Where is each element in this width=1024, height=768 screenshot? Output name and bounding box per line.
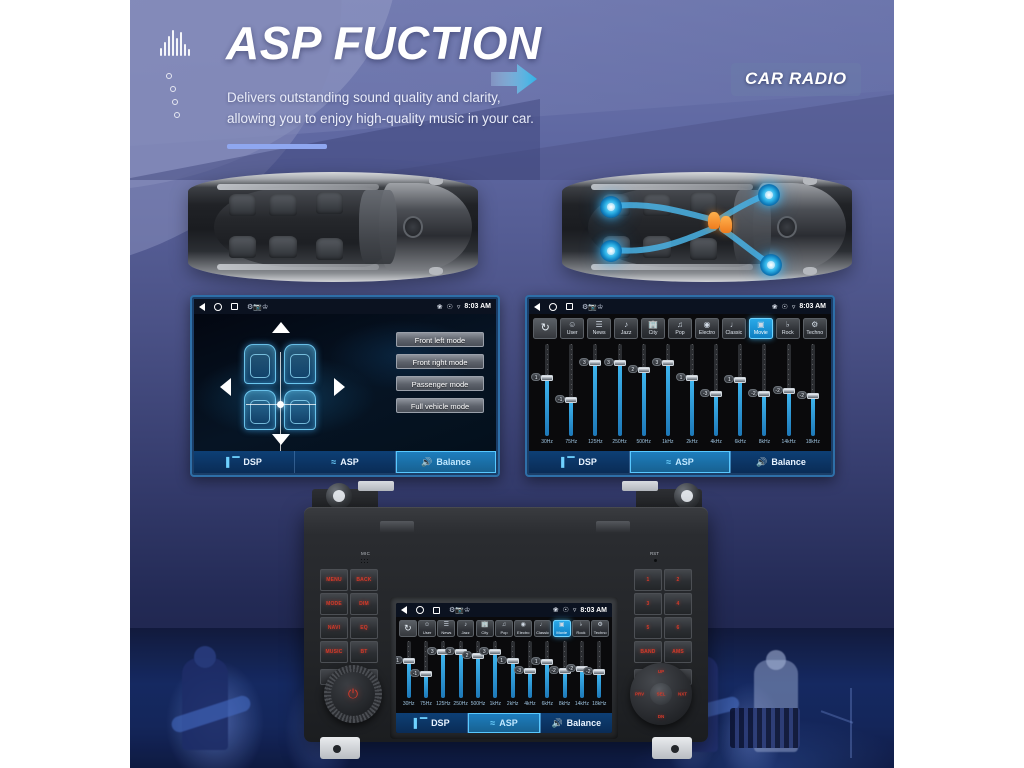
preset-user-label: User — [419, 630, 435, 636]
eq-value: 3 — [479, 647, 489, 655]
speaker-rear-right — [760, 254, 782, 276]
eq-knob[interactable] — [686, 375, 698, 381]
eq-freq-label: 8kHz — [759, 436, 770, 449]
eq-band-14khz[interactable]: -2 14kHz — [575, 641, 589, 711]
key-back[interactable]: BACK — [350, 569, 378, 591]
eq-band-8khz[interactable]: -2 8kHz — [558, 641, 572, 711]
key-navi[interactable]: NAVI — [320, 617, 348, 639]
balance-screen: ⚙📷♔ ❀ ☉ ▿ 8:03 AM — [194, 299, 496, 473]
eq-value: 3 — [604, 358, 614, 366]
unit-preset-row: ↻ ☺ User ☰ News ♪ — [396, 617, 612, 639]
bracket-tab-left — [358, 481, 394, 491]
equalizer-bars-icon: ▌▔ — [561, 458, 574, 467]
tab-balance[interactable]: 🔊 Balance — [731, 451, 831, 473]
recent-square-icon[interactable] — [433, 607, 440, 614]
tab-dsp-label: DSP — [243, 457, 262, 467]
status-tray-icons: ⚙📷♔ — [582, 303, 603, 311]
preset-user[interactable]: ☺ User — [560, 318, 584, 339]
eq-value: -1 — [410, 669, 420, 677]
eq-knob[interactable] — [420, 671, 432, 677]
eq-band-1khz[interactable]: 3 1kHz — [659, 344, 677, 449]
eq-value: 3 — [652, 358, 662, 366]
preset-movie-label: Movie — [554, 630, 570, 636]
preset-pop[interactable]: ♫ Pop — [668, 318, 692, 339]
bluetooth-icon: ❀ — [553, 606, 559, 614]
preset-rock-label: Rock — [573, 630, 589, 636]
tab-dsp[interactable]: ▌▔ DSP — [396, 713, 468, 733]
seat-balance-grid[interactable] — [244, 338, 318, 424]
tab-balance[interactable]: 🔊 Balance — [541, 713, 612, 733]
asp-waves-icon: ≈ — [666, 458, 671, 467]
eq-value: 1 — [396, 656, 403, 664]
eq-freq-label: 14kHz — [575, 698, 589, 711]
eq-screen-frame: ⚙📷♔ ❀ ☉ ▿ 8:03 AM ↻ ☺ — [525, 295, 835, 477]
classic-icon: ♩ — [535, 621, 551, 630]
unit-bottom-tab-bar: ▌▔ DSP ≈ ASP 🔊 Balance — [396, 713, 612, 733]
eq-knob[interactable] — [614, 360, 626, 366]
tab-asp[interactable]: ≈ ASP — [630, 451, 731, 473]
page-root: ASP FUCTION Delivers outstanding sound q… — [0, 0, 1024, 768]
eq-knob[interactable] — [638, 367, 650, 373]
eq-reset-button[interactable]: ↻ — [399, 620, 417, 637]
tab-dsp[interactable]: ▌▔ DSP — [529, 451, 630, 473]
eq-reset-button[interactable]: ↻ — [533, 318, 557, 339]
preset-pop-label: Pop — [496, 630, 512, 636]
status-clock: 8:03 AM — [580, 607, 607, 614]
key-bt[interactable]: BT — [350, 641, 378, 663]
key-preset-4[interactable]: 4 — [664, 593, 692, 615]
techno-icon: ⚙ — [804, 319, 826, 330]
sound-wave-paths — [562, 172, 852, 282]
bracket-tab-right — [622, 481, 658, 491]
tab-balance-label: Balance — [567, 718, 602, 728]
status-clock: 8:03 AM — [464, 303, 491, 310]
jazz-icon: ♪ — [458, 621, 474, 630]
left-key-block: MENU BACK MODE DIM NAVI EQ MUSIC BT — [320, 569, 378, 663]
eq-value: -2 — [583, 667, 593, 675]
preset-classic-label: Classic — [535, 630, 551, 636]
preset-city-label: City — [477, 630, 493, 636]
eq-value: -2 — [773, 386, 783, 394]
speaker-waves-icon: 🔊 — [756, 458, 767, 467]
location-icon: ☉ — [782, 303, 788, 311]
key-music[interactable]: MUSIC — [320, 641, 348, 663]
eq-freq-label: 1kHz — [490, 698, 501, 711]
tab-asp-label: ASP — [499, 718, 518, 728]
eq-band-75hz[interactable]: -1 75Hz — [562, 344, 580, 449]
unit-eq-body: ↻ ☺ User ☰ News ♪ — [396, 617, 612, 713]
preset-movie-label: Movie — [750, 330, 772, 337]
preset-row: ↻ ☺ User ☰ News ♪ Jazz — [529, 314, 831, 342]
eq-screen: ⚙📷♔ ❀ ☉ ▿ 8:03 AM ↻ ☺ — [529, 299, 831, 473]
speaker-front-left — [600, 196, 622, 218]
asp-waves-icon: ≈ — [490, 719, 495, 728]
eq-value: -2 — [549, 666, 559, 674]
preset-electro[interactable]: ◉ Electro — [514, 620, 532, 637]
eq-value: 2 — [628, 365, 638, 373]
eq-value: -2 — [797, 391, 807, 399]
movie-icon: ▣ — [554, 621, 570, 630]
eq-slider-group: 1 30Hz -1 75Hz — [529, 344, 831, 451]
rock-icon: ♭ — [777, 319, 799, 330]
reset-circular-arrow-icon: ↻ — [534, 319, 556, 330]
eq-freq-label: 6kHz — [735, 436, 746, 449]
eq-knob[interactable] — [489, 649, 501, 655]
bluetooth-icon: ❀ — [772, 303, 778, 311]
preset-user-label: User — [561, 330, 583, 337]
pop-icon: ♫ — [496, 621, 512, 630]
preset-news[interactable]: ☰ News — [437, 620, 455, 637]
eq-knob[interactable] — [541, 659, 553, 665]
preset-jazz[interactable]: ♪ Jazz — [457, 620, 475, 637]
eq-band-4khz[interactable]: -3 4kHz — [523, 641, 537, 711]
eq-band-250hz[interactable]: 3 250Hz — [611, 344, 629, 449]
mode-full-vehicle[interactable]: Full vehicle mode — [396, 398, 484, 413]
car-stereo-unit: MIC RST MENU BACK MODE DIM NAVI EQ MUSIC… — [296, 485, 716, 757]
key-preset-6[interactable]: 6 — [664, 617, 692, 639]
dpad-center-label: SEL — [657, 692, 666, 697]
eq-knob[interactable] — [589, 360, 601, 366]
eq-knob[interactable] — [541, 375, 553, 381]
unit-display-bezel: ⚙📷♔ ❀ ☉ ▿ 8:03 AM ↻ — [390, 597, 618, 739]
eq-freq-label: 500Hz — [636, 436, 650, 449]
preset-pop[interactable]: ♫ Pop — [495, 620, 513, 637]
eq-knob[interactable] — [524, 668, 536, 674]
eq-knob[interactable] — [734, 377, 746, 383]
preset-user[interactable]: ☺ User — [418, 620, 436, 637]
seat-front-right[interactable] — [284, 344, 316, 384]
accent-underline — [227, 144, 327, 149]
balance-position-handle[interactable] — [277, 401, 284, 408]
preset-rock[interactable]: ♭ Rock — [572, 620, 590, 637]
preset-news-label: News — [438, 630, 454, 636]
tab-balance-label: Balance — [436, 457, 471, 467]
mode-front-left[interactable]: Front left mode — [396, 332, 484, 347]
eq-band-6khz[interactable]: 1 6kHz — [731, 344, 749, 449]
eq-value: 3 — [445, 647, 455, 655]
eq-knob[interactable] — [507, 658, 519, 664]
status-tray-icons: ⚙📷♔ — [449, 606, 470, 614]
subtitle-line-1: Delivers outstanding sound quality and c… — [227, 88, 657, 109]
eq-band-8khz[interactable]: -2 8kHz — [755, 344, 773, 449]
preset-classic[interactable]: ♩ Classic — [722, 318, 746, 339]
eq-knob[interactable] — [662, 360, 674, 366]
mode-button-list: Front left mode Front right mode Passeng… — [396, 332, 484, 413]
key-menu[interactable]: MENU — [320, 569, 348, 591]
bracket-knob-left — [326, 483, 352, 509]
wifi-icon: ▿ — [573, 606, 577, 614]
preset-movie[interactable]: ▣ Movie — [749, 318, 773, 339]
eq-freq-label: 1kHz — [662, 436, 673, 449]
eq-band-2khz[interactable]: 1 2kHz — [506, 641, 520, 711]
eq-freq-label: 75Hz — [420, 698, 432, 711]
eq-band-18khz[interactable]: -2 18kHz — [804, 344, 822, 449]
preset-rock[interactable]: ♭ Rock — [776, 318, 800, 339]
power-icon: ⏻ — [348, 686, 358, 702]
preset-rock-label: Rock — [777, 330, 799, 337]
eq-value: 1 — [724, 375, 734, 383]
car-top-view-after — [562, 172, 852, 282]
transform-arrow-icon — [491, 62, 537, 96]
eq-band-1khz[interactable]: 3 1kHz — [488, 641, 502, 711]
microphone-icon — [360, 558, 369, 565]
eq-knob[interactable] — [783, 388, 795, 394]
eq-freq-label: 18kHz — [592, 698, 606, 711]
eq-band-14khz[interactable]: -2 14kHz — [780, 344, 798, 449]
eq-knob[interactable] — [807, 393, 819, 399]
subtitle-line-2: allowing you to enjoy high-quality music… — [227, 109, 657, 130]
bluetooth-icon: ❀ — [437, 303, 443, 311]
eq-body: ↻ ☺ User ☰ News ♪ Jazz — [529, 314, 831, 451]
eq-value: -2 — [748, 389, 758, 397]
jazz-icon: ♪ — [615, 319, 637, 330]
bracket-knob-right — [674, 483, 700, 509]
preset-news-label: News — [588, 330, 610, 337]
rst-label: RST — [650, 551, 659, 556]
tab-asp-label: ASP — [340, 457, 359, 467]
preset-city[interactable]: 🏢 City — [641, 318, 665, 339]
status-tray-icons: ⚙📷♔ — [247, 303, 268, 311]
movie-icon: ▣ — [750, 319, 772, 330]
preset-electro-label: Electro — [696, 330, 718, 337]
unit-display: ⚙📷♔ ❀ ☉ ▿ 8:03 AM ↻ — [396, 603, 612, 733]
eq-freq-label: 2kHz — [686, 436, 697, 449]
eq-freq-label: 4kHz — [710, 436, 721, 449]
equalizer-bars-icon: ▌▔ — [226, 458, 239, 467]
arrow-left-icon[interactable] — [220, 378, 231, 396]
mic-label: MIC — [361, 551, 370, 556]
preset-techno-label: Techno — [592, 630, 608, 636]
city-icon: 🏢 — [477, 621, 493, 630]
back-triangle-icon[interactable] — [534, 303, 540, 311]
eq-value: -2 — [566, 664, 576, 672]
eq-value: 1 — [531, 373, 541, 381]
page-subtitle: Delivers outstanding sound quality and c… — [227, 88, 657, 130]
unit-eq-slider-group: 1 30Hz -1 75 — [396, 641, 612, 713]
recent-square-icon[interactable] — [231, 303, 238, 310]
eq-value: -3 — [514, 666, 524, 674]
eq-band-2khz[interactable]: 1 2kHz — [683, 344, 701, 449]
classic-icon: ♩ — [723, 319, 745, 330]
arrow-right-icon[interactable] — [334, 378, 345, 396]
category-badge: CAR RADIO — [731, 63, 861, 96]
eq-band-18khz[interactable]: -2 18kHz — [592, 641, 606, 711]
recent-square-icon[interactable] — [566, 303, 573, 310]
status-clock: 8:03 AM — [799, 303, 826, 310]
techno-icon: ⚙ — [592, 621, 608, 630]
eq-value: 1 — [531, 657, 541, 665]
key-preset-2[interactable]: 2 — [664, 569, 692, 591]
eq-freq-label: 125Hz — [588, 436, 602, 449]
preset-jazz[interactable]: ♪ Jazz — [614, 318, 638, 339]
eq-freq-label: 125Hz — [436, 698, 450, 711]
preset-techno[interactable]: ⚙ Techno — [591, 620, 609, 637]
eq-band-30hz[interactable]: 1 30Hz — [538, 344, 556, 449]
key-preset-1[interactable]: 1 — [634, 569, 662, 591]
tab-dsp[interactable]: ▌▔ DSP — [194, 451, 295, 473]
preset-news[interactable]: ☰ News — [587, 318, 611, 339]
stereo-faceplate: MIC RST MENU BACK MODE DIM NAVI EQ MUSIC… — [304, 507, 708, 742]
balance-screen-frame: ⚙📷♔ ❀ ☉ ▿ 8:03 AM — [190, 295, 500, 477]
eq-freq-label: 8kHz — [559, 698, 570, 711]
speaker-waves-icon: 🔊 — [551, 719, 562, 728]
eq-value: 2 — [462, 651, 472, 659]
eq-freq-label: 18kHz — [806, 436, 820, 449]
eq-freq-label: 30Hz — [541, 436, 553, 449]
asp-waves-icon: ≈ — [331, 458, 336, 467]
eq-knob[interactable] — [403, 658, 415, 664]
electro-icon: ◉ — [696, 319, 718, 330]
navigation-dpad[interactable]: UP DN PRV NXT SEL — [630, 663, 692, 725]
home-circle-icon[interactable] — [416, 606, 424, 614]
equalizer-bars-icon: ▌▔ — [414, 719, 427, 728]
key-preset-5[interactable]: 5 — [634, 617, 662, 639]
eq-knob[interactable] — [758, 391, 770, 397]
electro-icon: ◉ — [515, 621, 531, 630]
tab-asp-label: ASP — [675, 457, 694, 467]
tab-asp[interactable]: ≈ ASP — [295, 451, 396, 473]
key-preset-3[interactable]: 3 — [634, 593, 662, 615]
eq-value: 1 — [676, 373, 686, 381]
dpad-down-label: DN — [658, 714, 665, 719]
eq-band-125hz[interactable]: 3 125Hz — [586, 344, 604, 449]
key-ams[interactable]: AMS — [664, 641, 692, 663]
rock-icon: ♭ — [573, 621, 589, 630]
eq-band-500hz[interactable]: 2 500Hz — [635, 344, 653, 449]
tab-asp[interactable]: ≈ ASP — [468, 713, 540, 733]
mode-passenger[interactable]: Passenger mode — [396, 376, 484, 391]
eq-freq-label: 500Hz — [471, 698, 485, 711]
tab-dsp-label: DSP — [431, 718, 450, 728]
arrow-up-icon[interactable] — [272, 322, 290, 333]
eq-freq-label: 75Hz — [565, 436, 577, 449]
eq-value: -3 — [700, 389, 710, 397]
speaker-waves-icon: 🔊 — [421, 458, 432, 467]
key-band[interactable]: BAND — [634, 641, 662, 663]
preset-electro-label: Electro — [515, 630, 531, 636]
waveform-icon — [160, 30, 190, 56]
balance-body: Front left mode Front right mode Passeng… — [194, 314, 496, 451]
key-eq[interactable]: EQ — [350, 617, 378, 639]
tab-balance-label: Balance — [771, 457, 806, 467]
eq-knob[interactable] — [710, 391, 722, 397]
seat-rear-right[interactable] — [284, 390, 316, 430]
news-icon: ☰ — [588, 319, 610, 330]
back-triangle-icon[interactable] — [401, 606, 407, 614]
eq-band-4khz[interactable]: -3 4kHz — [707, 344, 725, 449]
preset-electro[interactable]: ◉ Electro — [695, 318, 719, 339]
mode-front-right[interactable]: Front right mode — [396, 354, 484, 369]
pop-icon: ♫ — [669, 319, 691, 330]
arrow-down-icon[interactable] — [272, 434, 290, 445]
speaker-rear-left — [600, 240, 622, 262]
wifi-icon: ▿ — [457, 303, 461, 311]
home-circle-icon[interactable] — [549, 303, 557, 311]
eq-band-6khz[interactable]: 1 6kHz — [540, 641, 554, 711]
mount-foot-left — [320, 737, 360, 759]
bottom-tab-bar: ▌▔ DSP ≈ ASP 🔊 Balance — [194, 451, 496, 473]
reset-circular-arrow-icon: ↻ — [400, 621, 416, 632]
eq-freq-label: 250Hz — [453, 698, 467, 711]
eq-knob[interactable] — [593, 669, 605, 675]
speaker-front-right — [758, 184, 780, 206]
status-bar: ⚙📷♔ ❀ ☉ ▿ 8:03 AM — [194, 299, 496, 314]
preset-jazz-label: Jazz — [458, 630, 474, 636]
right-key-block: 1 2 3 4 5 6 BAND AMS — [634, 569, 692, 663]
eq-freq-label: 250Hz — [612, 436, 626, 449]
user-icon: ☺ — [561, 319, 583, 330]
home-circle-icon[interactable] — [214, 303, 222, 311]
seat-front-left[interactable] — [244, 344, 276, 384]
dpad-up-label: UP — [658, 669, 664, 674]
eq-value: -1 — [555, 395, 565, 403]
preset-city[interactable]: 🏢 City — [476, 620, 494, 637]
eq-value: 1 — [497, 656, 507, 664]
preset-movie[interactable]: ▣ Movie — [553, 620, 571, 637]
key-mode[interactable]: MODE — [320, 593, 348, 615]
eq-value: 3 — [579, 358, 589, 366]
preset-techno-label: Techno — [804, 330, 826, 337]
status-bar-eq: ⚙📷♔ ❀ ☉ ▿ 8:03 AM — [529, 299, 831, 314]
dpad-left-label: PRV — [635, 692, 644, 697]
wifi-icon: ▿ — [792, 303, 796, 311]
eq-freq-label: 4kHz — [524, 698, 535, 711]
eq-freq-label: 30Hz — [403, 698, 415, 711]
preset-jazz-label: Jazz — [615, 330, 637, 337]
preset-classic[interactable]: ♩ Classic — [534, 620, 552, 637]
eq-freq-label: 2kHz — [507, 698, 518, 711]
faceplate-slot-left — [380, 521, 414, 533]
preset-classic-label: Classic — [723, 330, 745, 337]
reset-pinhole — [654, 559, 657, 562]
volume-power-knob[interactable]: ⏻ — [324, 665, 382, 723]
location-icon: ☉ — [563, 606, 569, 614]
faceplate-slot-right — [596, 521, 630, 533]
listener-marker-a — [708, 212, 720, 229]
bottom-tab-bar: ▌▔ DSP ≈ ASP 🔊 Balance — [529, 451, 831, 473]
decorative-dots — [166, 73, 180, 118]
key-dim[interactable]: DIM — [350, 593, 378, 615]
tab-balance[interactable]: 🔊 Balance — [396, 451, 496, 473]
status-bar-unit: ⚙📷♔ ❀ ☉ ▿ 8:03 AM — [396, 603, 612, 617]
seat-rear-left[interactable] — [244, 390, 276, 430]
preset-city-label: City — [642, 330, 664, 337]
preset-pop-label: Pop — [669, 330, 691, 337]
news-icon: ☰ — [438, 621, 454, 630]
tab-dsp-label: DSP — [578, 457, 597, 467]
car-top-view-before — [188, 172, 478, 282]
preset-techno[interactable]: ⚙ Techno — [803, 318, 827, 339]
eq-freq-label: 14kHz — [782, 436, 796, 449]
eq-knob[interactable] — [565, 397, 577, 403]
listener-marker-b — [720, 216, 732, 233]
dpad-right-label: NXT — [678, 692, 687, 697]
user-icon: ☺ — [419, 621, 435, 630]
eq-value: 3 — [427, 647, 437, 655]
back-triangle-icon[interactable] — [199, 303, 205, 311]
mount-foot-right — [652, 737, 692, 759]
location-icon: ☉ — [447, 303, 453, 311]
city-icon: 🏢 — [642, 319, 664, 330]
eq-freq-label: 6kHz — [542, 698, 553, 711]
